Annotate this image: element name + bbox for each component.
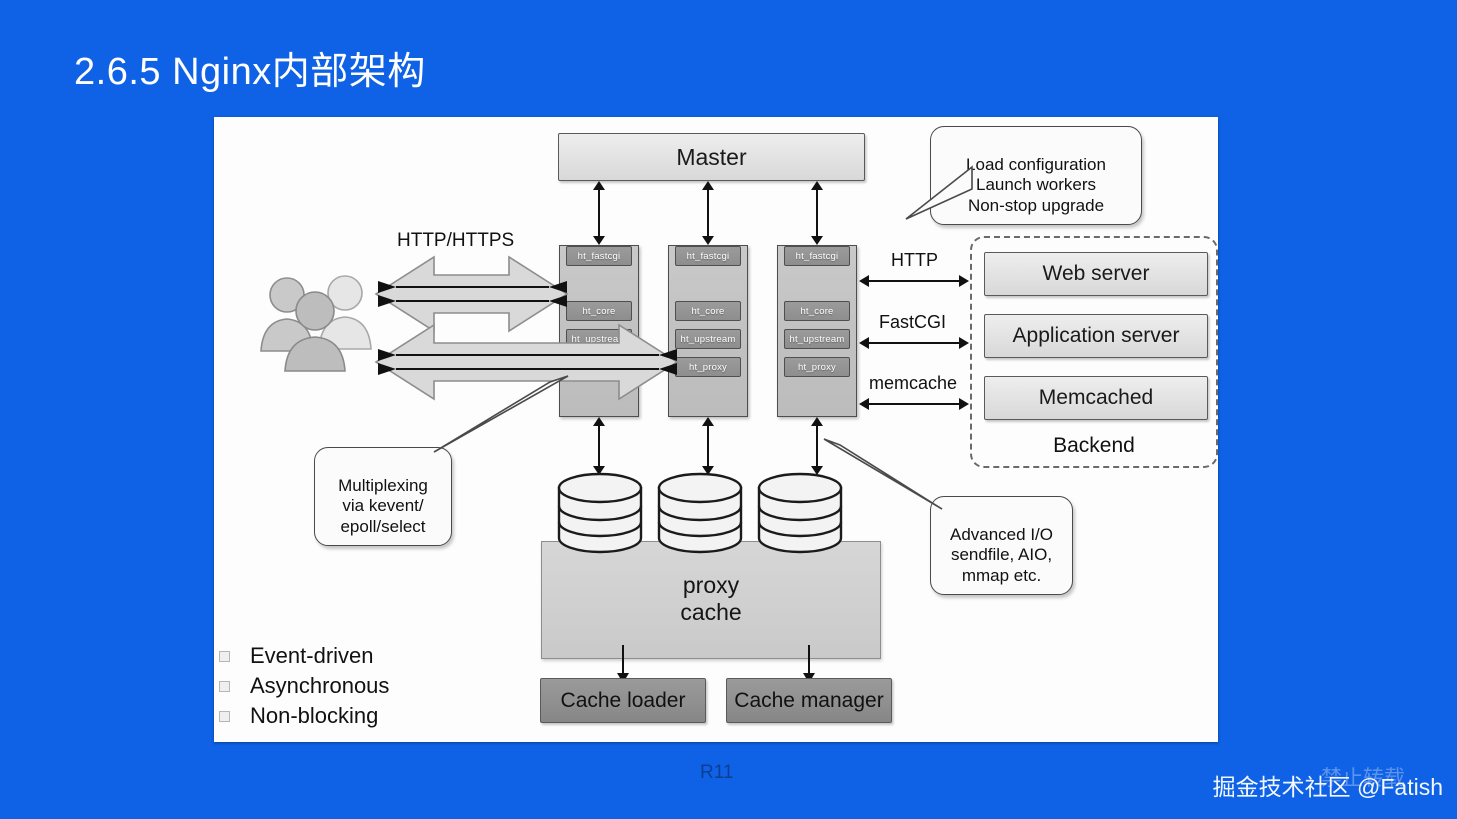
- backend-web-server-box: Web server: [984, 252, 1208, 296]
- advanced-io-callout-bubble: Advanced I/O sendfile, AIO, mmap etc.: [930, 496, 1073, 595]
- master-callout-text: Load configuration Launch workers Non-st…: [966, 155, 1106, 215]
- users-group-icon: [257, 267, 377, 377]
- worker-module-ht-core: ht_core: [566, 301, 632, 321]
- page-title: 2.6.5 Nginx内部架构: [74, 40, 426, 95]
- backend-arrow-memcache: [859, 398, 969, 410]
- worker-module-ht-fastcgi: ht_fastcgi: [675, 246, 741, 266]
- master-callout-tail: [904, 161, 974, 223]
- diagram-panel: Master Load configuration Launch workers…: [214, 117, 1218, 742]
- watermark: 掘金技术社区 @Fatish: [1213, 768, 1443, 802]
- client-protocol-label: HTTP/HTTPS: [397, 230, 514, 252]
- cache-loader-label: Cache loader: [561, 689, 686, 713]
- list-item: Non-blocking: [219, 701, 389, 731]
- proxy-cache-label: proxy cache: [542, 572, 880, 626]
- backend-application-server-label: Application server: [1013, 324, 1180, 348]
- cache-disk-0: [555, 468, 645, 560]
- backend-group: Web server Application server Memcached …: [970, 236, 1218, 468]
- master-worker-arrow-1: [702, 181, 714, 245]
- feature-label-event-driven: Event-driven: [250, 643, 374, 669]
- worker-module-ht-fastcgi: ht_fastcgi: [784, 246, 850, 266]
- multiplexing-callout-text: Multiplexing via kevent/ epoll/select: [338, 476, 428, 536]
- worker-module-ht-upstream: ht_upstream: [675, 329, 741, 349]
- worker-process-2: Worker ht_core ht_upstream ht_proxy ht_f…: [777, 245, 857, 417]
- worker-process-1: Worker ht_core ht_upstream ht_proxy ht_f…: [668, 245, 748, 417]
- list-item: Asynchronous: [219, 671, 389, 701]
- backend-protocol-label-http: HTTP: [891, 250, 938, 271]
- worker-module-ht-proxy: ht_proxy: [784, 357, 850, 377]
- worker-cache-arrow-1: [702, 417, 714, 475]
- master-worker-arrow-2: [811, 181, 823, 245]
- backend-protocol-label-fastcgi: FastCGI: [879, 312, 946, 333]
- bullet-square-icon: [219, 711, 230, 722]
- backend-protocol-label-memcache: memcache: [869, 373, 957, 394]
- backend-arrow-fastcgi: [859, 337, 969, 349]
- bullet-square-icon: [219, 651, 230, 662]
- worker-module-ht-proxy: ht_proxy: [675, 357, 741, 377]
- multiplexing-callout-tail: [430, 372, 570, 456]
- worker-module-ht-core: ht_core: [784, 301, 850, 321]
- cache-manager-box: Cache manager: [726, 678, 892, 723]
- backend-memcached-label: Memcached: [1039, 386, 1153, 410]
- backend-memcached-box: Memcached: [984, 376, 1208, 420]
- backend-web-server-label: Web server: [1043, 262, 1150, 286]
- worker-module-ht-core: ht_core: [675, 301, 741, 321]
- list-item: Event-driven: [219, 641, 389, 671]
- bullet-square-icon: [219, 681, 230, 692]
- feature-list: Event-driven Asynchronous Non-blocking: [219, 641, 389, 731]
- page-number: R11: [700, 762, 733, 784]
- feature-label-non-blocking: Non-blocking: [250, 703, 378, 729]
- master-label: Master: [676, 144, 746, 171]
- worker-cache-arrow-0: [593, 417, 605, 475]
- cache-disk-1: [655, 468, 745, 560]
- master-process-box: Master: [558, 133, 865, 181]
- multiplexing-callout-bubble: Multiplexing via kevent/ epoll/select: [314, 447, 452, 546]
- backend-arrow-http: [859, 275, 969, 287]
- worker-module-ht-upstream: ht_upstream: [784, 329, 850, 349]
- worker-module-ht-fastcgi: ht_fastcgi: [566, 246, 632, 266]
- feature-label-asynchronous: Asynchronous: [250, 673, 389, 699]
- cache-manager-label: Cache manager: [734, 689, 883, 713]
- backend-application-server-box: Application server: [984, 314, 1208, 358]
- advanced-io-callout-tail: [822, 435, 944, 515]
- backend-group-label: Backend: [972, 434, 1216, 458]
- master-worker-arrow-0: [593, 181, 605, 245]
- advanced-io-callout-text: Advanced I/O sendfile, AIO, mmap etc.: [950, 525, 1053, 585]
- cache-loader-box: Cache loader: [540, 678, 706, 723]
